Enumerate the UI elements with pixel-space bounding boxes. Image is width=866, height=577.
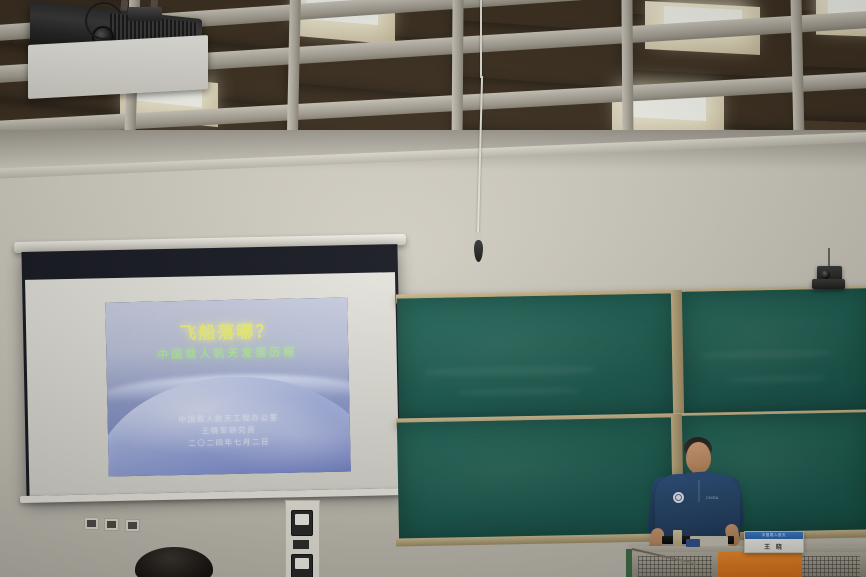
wall-outlet-3[interactable]	[125, 519, 140, 532]
camera-mount	[812, 279, 845, 289]
outlet-face-icon	[87, 520, 96, 527]
av-socket-face-icon	[295, 558, 309, 569]
podium-desk-mat	[718, 552, 802, 577]
projected-slide: 飞船落哪？ 中国载人航天发展历程 中国载人航天工程办公室 王晓军研究员 二〇二四…	[105, 297, 351, 476]
lecture-hall-photo: 飞船落哪？ 中国载人航天发展历程 中国载人航天工程办公室 王晓军研究员 二〇二四…	[0, 0, 866, 577]
camera-lens-icon	[821, 270, 830, 279]
blackboard-panel-3	[397, 417, 675, 540]
av-socket-top[interactable]	[291, 510, 313, 536]
nameplate-name-text: 王 晓	[745, 542, 803, 551]
av-socket-bottom[interactable]	[291, 554, 313, 577]
desk-cup[interactable]	[673, 530, 682, 546]
av-socket-face-icon	[295, 514, 309, 525]
av-wall-panel[interactable]	[285, 500, 320, 577]
logo-ring-icon	[675, 494, 682, 501]
blackboard-panel-1	[397, 293, 675, 421]
wall-outlet-2[interactable]	[104, 518, 119, 531]
outlet-face-icon	[128, 522, 137, 529]
wall-outlet-1[interactable]	[84, 517, 99, 530]
nameplate-top-band: 中国载人航天	[745, 532, 803, 539]
slide-title: 飞船落哪？	[106, 315, 348, 345]
projector-mount-plate	[28, 35, 208, 99]
presenter-chest-logo-icon	[673, 492, 684, 503]
presenter-placket	[698, 480, 700, 502]
podium-grille-panel	[800, 556, 860, 577]
av-label-strip	[293, 540, 309, 549]
podium-side-trim	[626, 549, 632, 577]
nameplate-band-text: 中国载人航天	[745, 533, 803, 538]
podium-nameplate: 中国载人航天 王 晓	[744, 531, 804, 553]
outlet-face-icon	[107, 521, 116, 528]
blackboard-panel-2	[681, 288, 866, 415]
desk-blue-item[interactable]	[686, 539, 700, 547]
presenter-chest-text: CMSA	[706, 495, 719, 500]
